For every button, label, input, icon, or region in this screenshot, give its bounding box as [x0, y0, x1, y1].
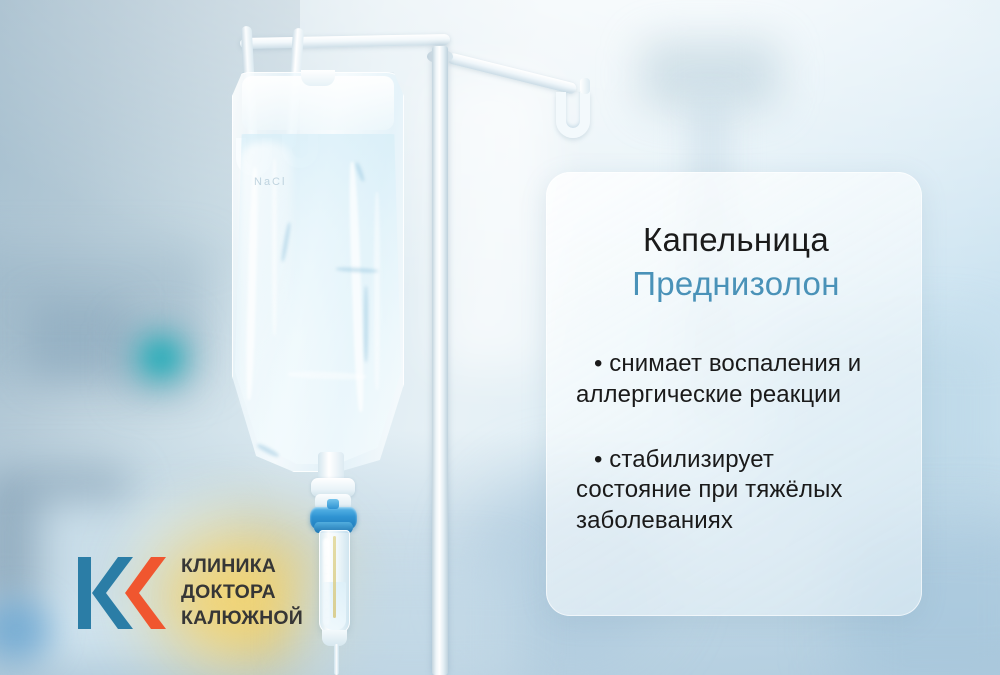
bag-label-text: NaCl — [254, 176, 286, 188]
benefit-item-2: • стабилизирует состояние при тяжёлых за… — [576, 445, 896, 537]
benefit-2-line-1: стабилизирует — [609, 446, 774, 473]
stand-pole — [432, 46, 448, 675]
benefits-list: • снимает воспаления и аллергические реа… — [576, 349, 896, 537]
bag-crease — [364, 286, 368, 362]
drug-name-title: Преднизолон — [576, 264, 896, 304]
chamber-glare — [323, 538, 330, 626]
benefit-1-line-1: снимает воспаления и — [609, 350, 861, 377]
bag-hanger-notch — [301, 70, 335, 86]
double-chevron-k-logo-icon — [78, 555, 166, 631]
bag-fold — [374, 192, 380, 390]
iv-tubing — [334, 644, 339, 675]
stand-right-arm — [447, 52, 578, 95]
advertisement-banner: NaCl Капельница Преднизолон • снимает во… — [0, 0, 1000, 675]
bullet-marker: • — [594, 350, 603, 377]
benefit-1-line-2: аллергические реакции — [576, 380, 896, 411]
benefit-2-line-3: заболеваниях — [576, 506, 896, 537]
logo-line-2: ДОКТОРА — [181, 580, 303, 606]
bullet-marker: • — [594, 446, 603, 473]
benefit-item-1: • снимает воспаления и аллергические реа… — [576, 349, 896, 410]
page-title: Капельница — [576, 220, 896, 260]
clinic-logo: КЛИНИКА ДОКТОРА КАЛЮЖНОЙ — [78, 554, 303, 632]
chamber-inner-tube — [333, 536, 336, 618]
benefit-2-line-2: состояние при тяжёлых — [576, 475, 896, 506]
logo-line-1: КЛИНИКА — [181, 554, 303, 580]
info-card: Капельница Преднизолон • снимает воспале… — [546, 172, 922, 616]
clinic-logo-text: КЛИНИКА ДОКТОРА КАЛЮЖНОЙ — [181, 554, 303, 632]
stand-hook-right-icon — [556, 92, 590, 138]
iv-fluid-bag-icon: NaCl — [232, 72, 404, 472]
logo-line-3: КАЛЮЖНОЙ — [181, 606, 303, 632]
drip-chamber-body — [319, 530, 350, 634]
